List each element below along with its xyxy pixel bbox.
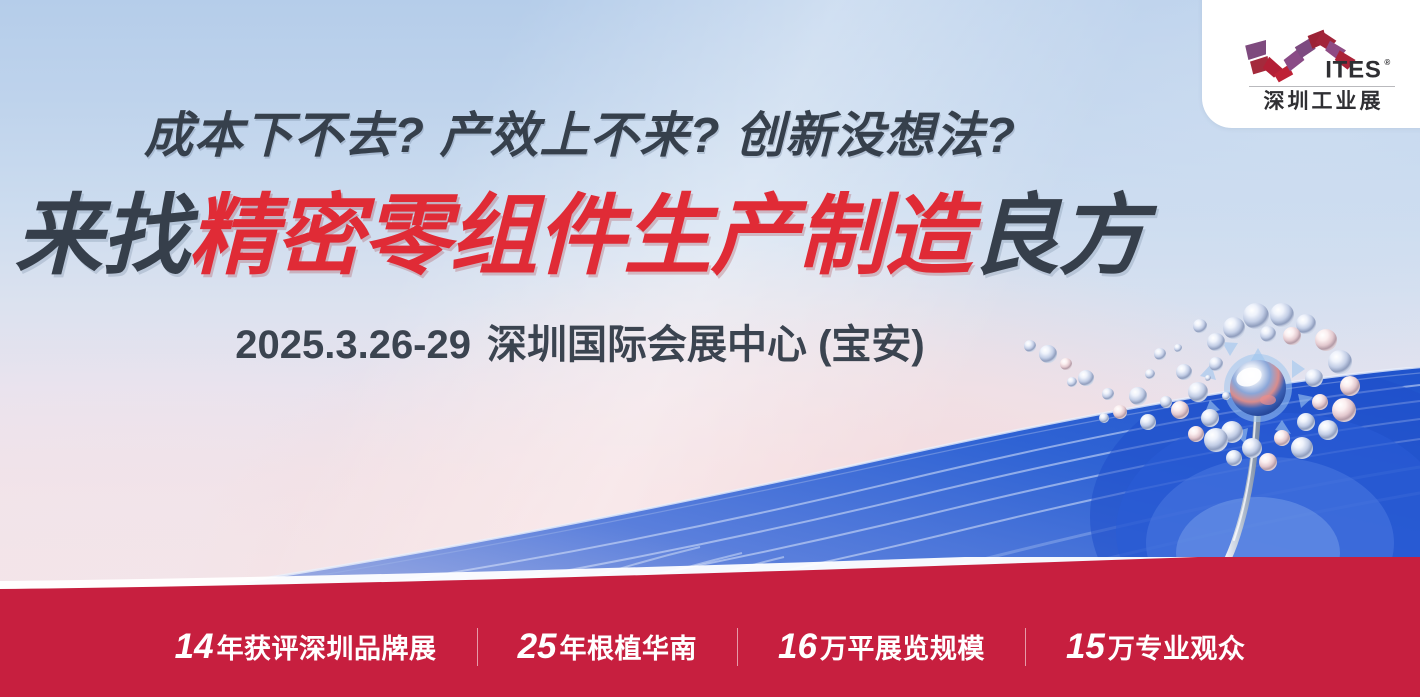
svg-text:®: ® (1384, 58, 1390, 67)
main-headline-highlight: 精密零组件生产制造 (188, 186, 971, 285)
main-headline-prefix: 来找 (14, 186, 188, 285)
svg-text:ITES: ITES (1325, 57, 1382, 84)
stats-bar: 14 年获评深圳品牌展 25 年根植华南 16 万平展览规模 15 万专业观众 (0, 557, 1420, 697)
stats-row: 14 年获评深圳品牌展 25 年根植华南 16 万平展览规模 15 万专业观众 (0, 597, 1420, 697)
logo-chinese-name: 深圳工业展 (1261, 91, 1384, 112)
event-info-line: 2025.3.26-29深圳国际会展中心 (宝安) (0, 325, 1160, 365)
stat-item: 14 年获评深圳品牌展 (135, 627, 477, 667)
stat-item: 25 年根植华南 (478, 627, 737, 667)
stat-number: 15 (1066, 627, 1105, 667)
ites-logo-card[interactable]: ITES ® 深圳工业展 (1202, 0, 1420, 128)
kicker-line: 成本下不去? 产效上不来? 创新没想法? (0, 112, 1160, 161)
stat-number: 16 (778, 627, 817, 667)
stat-label: 年获评深圳品牌展 (217, 627, 437, 666)
ites-zigzag-mark-icon: ITES ® (1242, 28, 1402, 84)
stat-label: 万平展览规模 (820, 627, 985, 666)
stat-number: 25 (518, 627, 557, 667)
stat-number: 14 (175, 627, 214, 667)
stat-item: 15 万专业观众 (1026, 627, 1285, 667)
logo-divider (1249, 86, 1395, 87)
stat-item: 16 万平展览规模 (738, 627, 1025, 667)
stat-label: 年根植华南 (560, 627, 698, 666)
ites-promo-banner: ITES ® 深圳工业展 成本下不去? 产效上不来? 创新没想法? 来找精密零组… (0, 0, 1420, 697)
main-headline: 来找精密零组件生产制造良方 (0, 190, 1160, 282)
event-venue: 深圳国际会展中心 (宝安) (487, 323, 925, 367)
event-dates: 2025.3.26-29 (235, 323, 471, 367)
stat-label: 万专业观众 (1108, 627, 1246, 666)
main-headline-suffix: 良方 (972, 186, 1146, 285)
